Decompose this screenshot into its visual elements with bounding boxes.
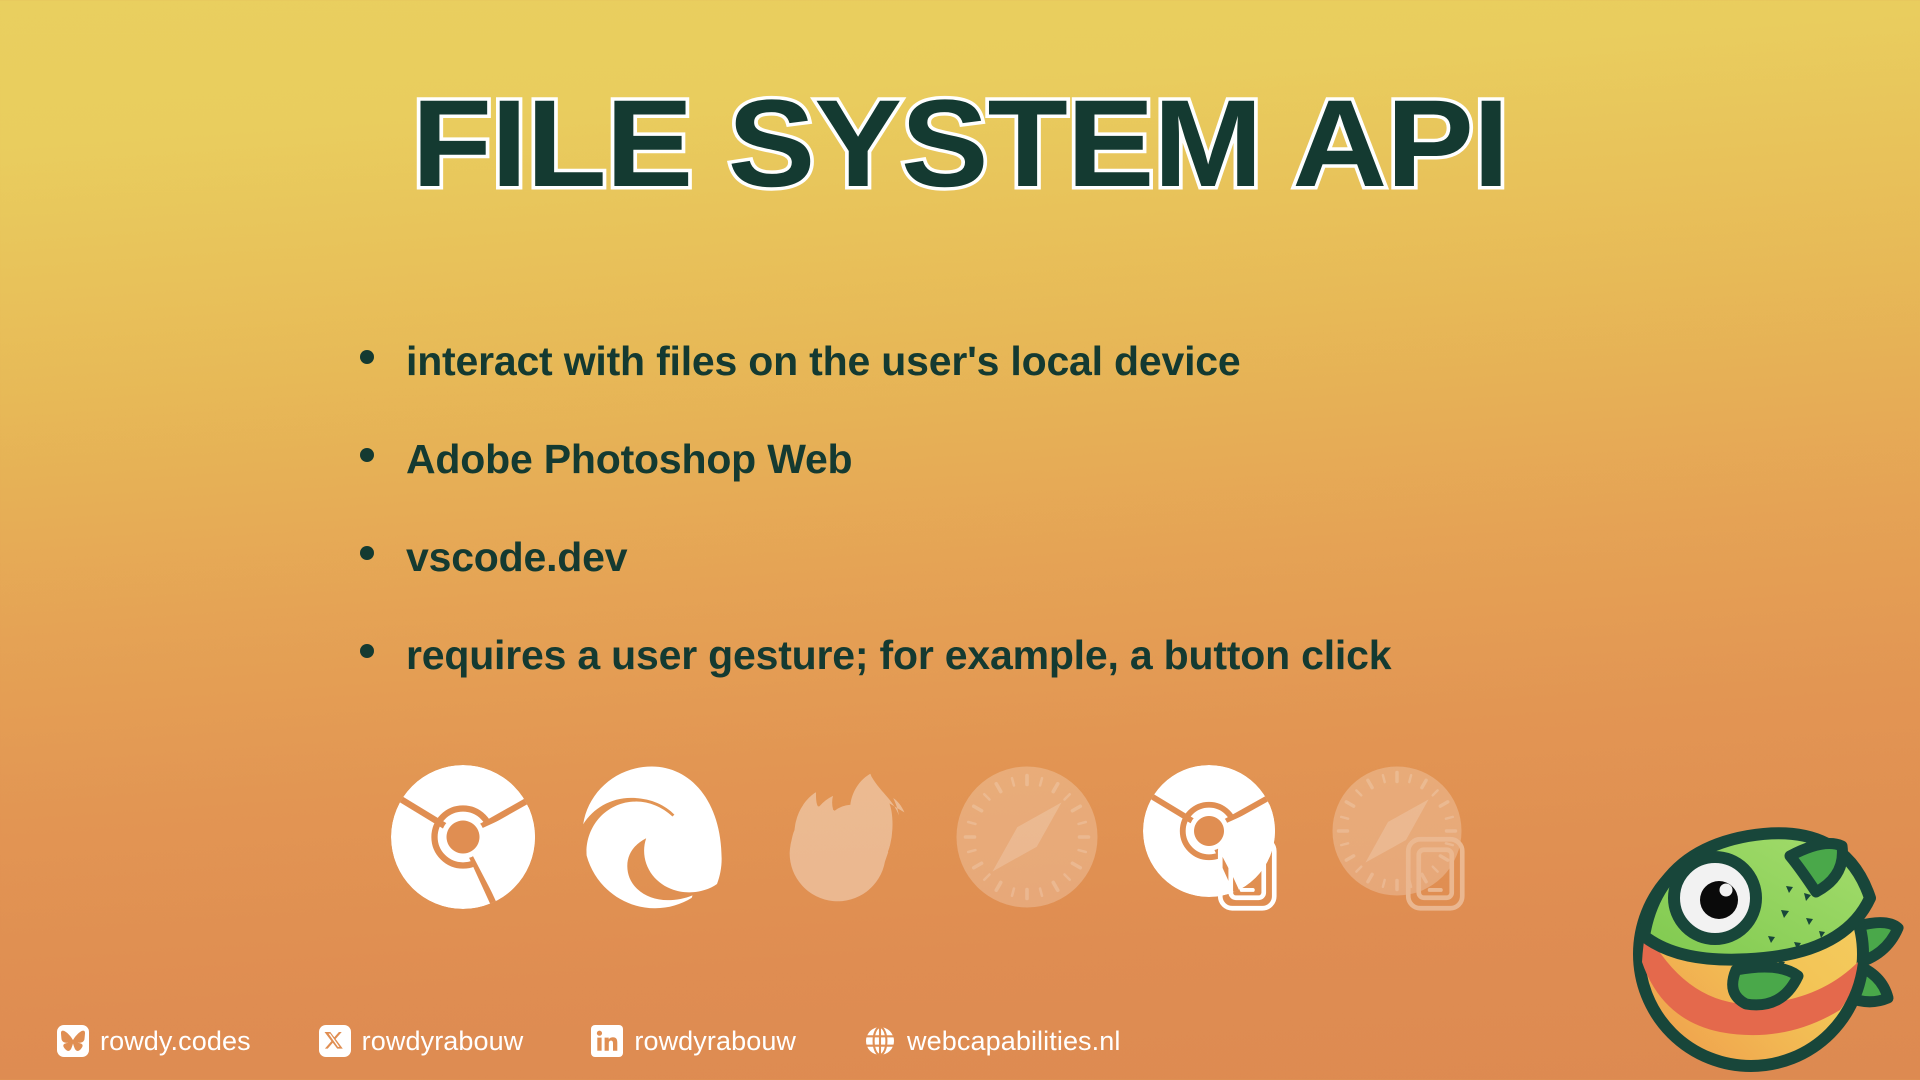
safari-icon (952, 762, 1102, 912)
footer-link-label: rowdyrabouw (362, 1026, 524, 1057)
footer-link-website[interactable]: webcapabilities.nl (864, 1025, 1120, 1057)
bullet-text: vscode.dev (406, 534, 627, 581)
footer-link-bluesky[interactable]: rowdy.codes (57, 1025, 251, 1057)
footer-link-label: webcapabilities.nl (907, 1026, 1120, 1057)
safari-mobile-icon (1328, 762, 1478, 912)
footer-link-label: rowdy.codes (100, 1026, 251, 1057)
list-item: vscode.dev (360, 534, 1810, 632)
browser-support-row (388, 762, 1478, 912)
footer-link-label: rowdyrabouw (634, 1026, 796, 1057)
list-item: interact with files on the user's local … (360, 338, 1810, 436)
bullet-dot-icon (360, 644, 374, 658)
bullet-dot-icon (360, 448, 374, 462)
chrome-icon (388, 762, 538, 912)
list-item: requires a user gesture; for example, a … (360, 632, 1810, 730)
globe-icon (864, 1025, 896, 1057)
bullet-text: requires a user gesture; for example, a … (406, 632, 1391, 679)
chrome-mobile-icon (1140, 762, 1290, 912)
x-icon (319, 1025, 351, 1057)
list-item: Adobe Photoshop Web (360, 436, 1810, 534)
footer-link-x[interactable]: rowdyrabouw (319, 1025, 524, 1057)
edge-icon (576, 762, 726, 912)
bullet-text: interact with files on the user's local … (406, 338, 1240, 385)
bullet-dot-icon (360, 350, 374, 364)
footer-social-links: rowdy.codes rowdyrabouw rowdyrabouw (57, 1025, 1120, 1057)
page-title: FILE SYSTEM API (0, 82, 1920, 206)
bullet-text: Adobe Photoshop Web (406, 436, 852, 483)
bullet-dot-icon (360, 546, 374, 560)
bluesky-icon (57, 1025, 89, 1057)
linkedin-icon (591, 1025, 623, 1057)
firefox-icon (764, 762, 914, 912)
bullet-list: interact with files on the user's local … (360, 338, 1810, 730)
piranha-mascot (1618, 818, 1914, 1080)
slide: FILE SYSTEM API interact with files on t… (0, 0, 1920, 1080)
footer-link-linkedin[interactable]: rowdyrabouw (591, 1025, 796, 1057)
